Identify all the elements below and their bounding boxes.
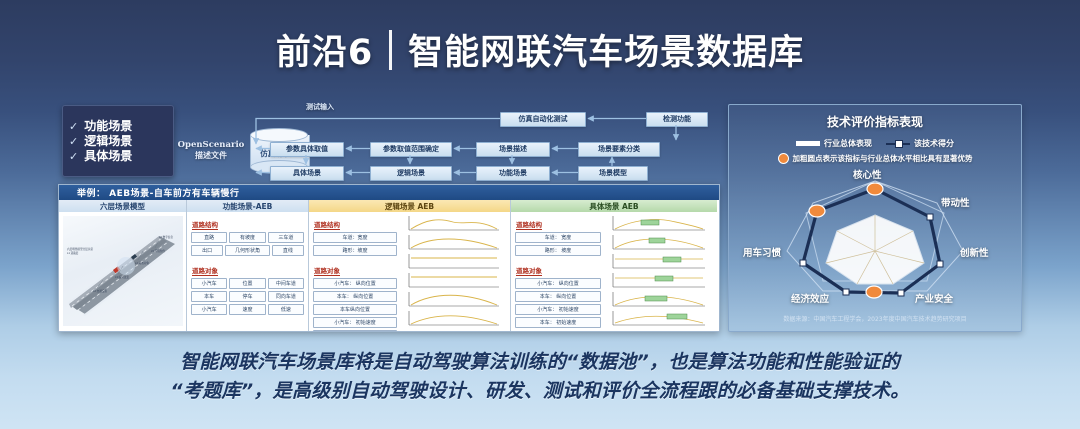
radar-axis-label-core: 核心性 [853, 167, 882, 181]
panel-concrete-scene-aeb: 具体场景 AEB 道路结构 车道： 宽度 路形： 坡度 道路对象 小汽车： 纵向… [511, 200, 717, 331]
chip-row: 本车： 纵向位置 [313, 291, 397, 302]
chip[interactable]: 低速 [268, 304, 304, 315]
chip-row: 本车 停车 同向车道 [191, 291, 304, 302]
panel-six-layer-model: 六层场景模型 [59, 200, 187, 331]
tech-evaluation-panel: 技术评价指标表现 行业总体表现 该技术得分 加粗圆点表示该指标与行业总体水平相比… [728, 104, 1022, 332]
title-text: 智能网联汽车场景数据库 [408, 24, 804, 75]
title-divider [389, 30, 392, 70]
chip[interactable]: 本车： 初始速度 [313, 330, 397, 332]
checklist-label: 具体场景 [84, 150, 132, 162]
chip-row: 直路 有坡度 三车道 [191, 232, 304, 243]
chip[interactable]: 路形： 坡度 [515, 245, 601, 256]
section-title-road-structure: 道路结构 [516, 219, 542, 230]
check-icon: ✓ [69, 136, 78, 147]
radar-note: 加粗圆点表示该指标与行业总体水平相比具有显著优势 [729, 153, 1021, 164]
chip[interactable]: 小汽车： 纵向位置 [515, 278, 601, 289]
logic-scene-distribution-plots [401, 212, 510, 332]
page-title: 前沿6 智能网联汽车场景数据库 [0, 24, 1080, 75]
chip-row: 小汽车： 初始速度 [313, 317, 397, 328]
svg-text:L3 临时改变: L3 临时改变 [115, 275, 129, 279]
scenario-type-checklist: ✓ 功能场景 ✓ 逻辑场景 ✓ 具体场景 [62, 105, 174, 177]
chip-row: 小汽车： 纵向位置 [515, 278, 601, 289]
checklist-label: 逻辑场景 [84, 135, 132, 147]
chip[interactable]: 直线 [272, 245, 304, 256]
chip-row: 车道： 宽度 [515, 232, 601, 243]
chip[interactable]: 小汽车 [191, 278, 227, 289]
radar-source-note: 数据来源：中国汽车工程学会，2023年度中国汽车技术趋势研究项目 [729, 314, 1021, 323]
chip[interactable]: 本车： 纵向位置 [515, 291, 601, 302]
chip[interactable]: 车道：宽度 [313, 232, 397, 243]
chip[interactable]: 位置 [229, 278, 265, 289]
chip-row: 路形：坡度 [313, 245, 397, 256]
chip-row: 小汽车： 纵向位置 [313, 278, 397, 289]
chip[interactable]: 本车纵向位置 [313, 304, 397, 315]
checklist-label: 功能场景 [84, 120, 132, 132]
slide-root: 前沿6 智能网联汽车场景数据库 ✓ 功能场景 ✓ 逻辑场景 ✓ 具体场景 Ope… [0, 0, 1080, 429]
chip[interactable]: 同向车道 [268, 291, 304, 302]
chip-row: 小汽车 位置 中间车道 [191, 278, 304, 289]
chip[interactable]: 路形：坡度 [313, 245, 397, 256]
section-title-road-object: 道路对象 [192, 265, 218, 276]
openscenario-name: OpenScenario [176, 140, 246, 151]
chip[interactable]: 车道： 宽度 [515, 232, 601, 243]
chip[interactable]: 小汽车： 初始速度 [515, 304, 601, 315]
legend-label: 该技术得分 [914, 138, 954, 149]
svg-text:L6 数字信息: L6 数字信息 [159, 235, 173, 239]
section-title-road-object: 道路对象 [314, 265, 340, 276]
logic-plots-svg [401, 214, 507, 330]
radar-axis-label-economy: 经济效应 [791, 291, 829, 305]
panel-logic-scene-aeb: 逻辑场景 AEB 道路结构 车道：宽度 路形：坡度 道路对象 小汽车： 纵向位置 [309, 200, 511, 331]
radar-axis-label-industry-safety: 产业安全 [915, 291, 953, 305]
flowchart-connectors [248, 104, 710, 184]
road-svg: 六层场景模型分层示意 L1 道路层 L2 交通设施 L3 临时改变 L4 动态对… [63, 216, 183, 326]
caption-line-2: “考题库”，是高级别自动驾驶设计、研发、测试和评价全流程跟的必备基础支撑技术。 [0, 377, 1080, 406]
section-title-road-structure: 道路结构 [192, 219, 218, 230]
svg-text:L5 环境条件: L5 环境条件 [151, 249, 165, 253]
chip-row: 车道：宽度 [313, 232, 397, 243]
legend-label: 行业总体表现 [824, 138, 872, 149]
chip[interactable]: 直路 [191, 232, 227, 243]
summary-caption: 智能网联汽车场景库将是自动驾驶算法训练的“数据池”，也是算法功能和性能验证的 “… [0, 348, 1080, 405]
chip[interactable]: 小汽车 [191, 304, 227, 315]
card-body: 六层场景模型 [59, 200, 719, 331]
chip-row: 出口 几何形状角 直线 [191, 245, 304, 256]
chip[interactable]: 几何形状角 [225, 245, 269, 256]
openscenario-subtitle: 描述文件 [176, 151, 246, 161]
chip[interactable]: 停车 [229, 291, 265, 302]
legend-swatch-line [886, 143, 910, 145]
concrete-plots-svg [605, 214, 713, 330]
caption-line-1: 智能网联汽车场景库将是自动驾驶算法训练的“数据池”，也是算法功能和性能验证的 [0, 348, 1080, 377]
radar-legend: 行业总体表现 该技术得分 [729, 138, 1021, 149]
svg-text:L1 道路层: L1 道路层 [67, 251, 79, 255]
chip-row: 本车纵向位置 [313, 304, 397, 315]
svg-text:L4 动态对象: L4 动态对象 [135, 261, 149, 265]
chip-row: 小汽车 速度 低速 [191, 304, 304, 315]
chip-row: 本车： 纵向位置 [515, 291, 601, 302]
legend-swatch-bar [796, 141, 820, 146]
check-icon: ✓ [69, 151, 78, 162]
radar-axis-label-driving: 带动性 [941, 195, 970, 209]
card-title: 举例： AEB场景-自车前方有车辆慢行 [59, 185, 719, 200]
example-card: 举例： AEB场景-自车前方有车辆慢行 六层场景模型 [58, 184, 720, 332]
section-number: 前沿6 [276, 24, 373, 75]
panel-header: 具体场景 AEB [511, 200, 717, 212]
radar-axis-label-car-habit: 用车习惯 [743, 245, 781, 259]
highlight-dot-icon [778, 153, 789, 164]
check-icon: ✓ [69, 121, 78, 132]
svg-text:L2 交通设施: L2 交通设施 [93, 289, 107, 293]
chip[interactable]: 本车： 初始速度 [515, 317, 601, 328]
road-scene-illustration: 六层场景模型分层示意 L1 道路层 L2 交通设施 L3 临时改变 L4 动态对… [63, 216, 183, 326]
scenario-generation-flowchart: 仿真自动化测试 检测功能 参数具体取值 参数取值范围确定 场景描述 场景要素分类… [248, 104, 710, 184]
chip-row: 路形： 坡度 [515, 245, 601, 256]
radar-axis-label-innovation: 创新性 [960, 245, 989, 259]
chip[interactable]: 小汽车： 初始速度 [313, 317, 397, 328]
radar-title: 技术评价指标表现 [729, 113, 1021, 130]
panel-header: 六层场景模型 [59, 200, 186, 212]
chip[interactable]: 出口 [191, 245, 223, 256]
panel-function-scene-aeb: 功能场景-AEB 道路结构 直路 有坡度 三车道 出口 几何形状角 直线 道路对… [187, 200, 309, 331]
chip-row: 本车： 初始速度 [515, 317, 601, 328]
svg-text:六层场景模型分层示意: 六层场景模型分层示意 [67, 247, 93, 251]
chip[interactable]: 三车道 [268, 232, 304, 243]
chip-row: 本车： 初始速度 [313, 330, 397, 332]
panel-header: 逻辑场景 AEB [309, 200, 510, 212]
chip[interactable]: 本车 [191, 291, 227, 302]
panel-header: 功能场景-AEB [187, 200, 308, 212]
concrete-scene-value-plots [605, 212, 717, 332]
checklist-item-concrete[interactable]: ✓ 具体场景 [69, 150, 167, 162]
chip[interactable]: 本车： 纵向位置 [313, 291, 397, 302]
checklist-item-logical[interactable]: ✓ 逻辑场景 [69, 135, 167, 147]
chip-row: 小汽车： 初始速度 [515, 304, 601, 315]
openscenario-label: OpenScenario 描述文件 [176, 140, 246, 161]
chip[interactable]: 速度 [229, 304, 265, 315]
legend-item-tech-score: 该技术得分 [886, 138, 954, 149]
legend-item-industry-overall: 行业总体表现 [796, 138, 872, 149]
radar-note-text: 加粗圆点表示该指标与行业总体水平相比具有显著优势 [793, 153, 973, 164]
chip[interactable]: 小汽车： 纵向位置 [313, 278, 397, 289]
section-title-road-object: 道路对象 [516, 265, 542, 276]
chip[interactable]: 有坡度 [229, 232, 265, 243]
checklist-item-functional[interactable]: ✓ 功能场景 [69, 120, 167, 132]
chip[interactable]: 中间车道 [268, 278, 304, 289]
section-title-road-structure: 道路结构 [314, 219, 340, 230]
